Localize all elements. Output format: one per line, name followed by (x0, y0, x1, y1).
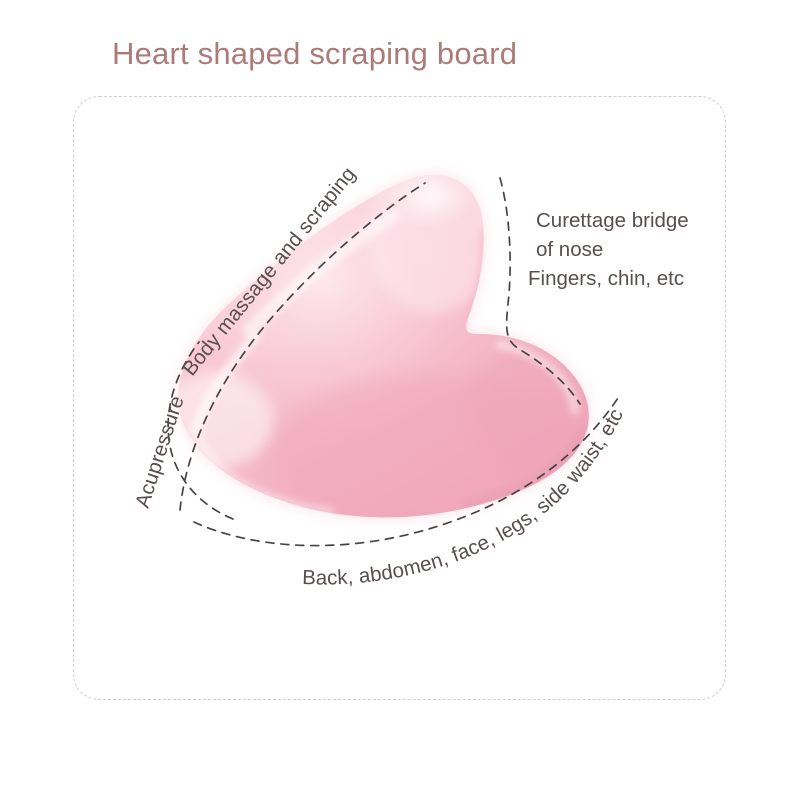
page-title: Heart shaped scraping board (112, 36, 517, 72)
dashed-frame-border (73, 96, 726, 700)
annotation-curettage-line3: Fingers, chin, etc (528, 264, 689, 293)
annotation-curettage-line2: of nose (536, 235, 689, 264)
annotation-curettage-line1: Curettage bridge (536, 206, 689, 235)
annotation-curettage-block: Curettage bridge of nose Fingers, chin, … (536, 206, 689, 293)
product-infographic: Heart shaped scraping board (0, 0, 800, 800)
